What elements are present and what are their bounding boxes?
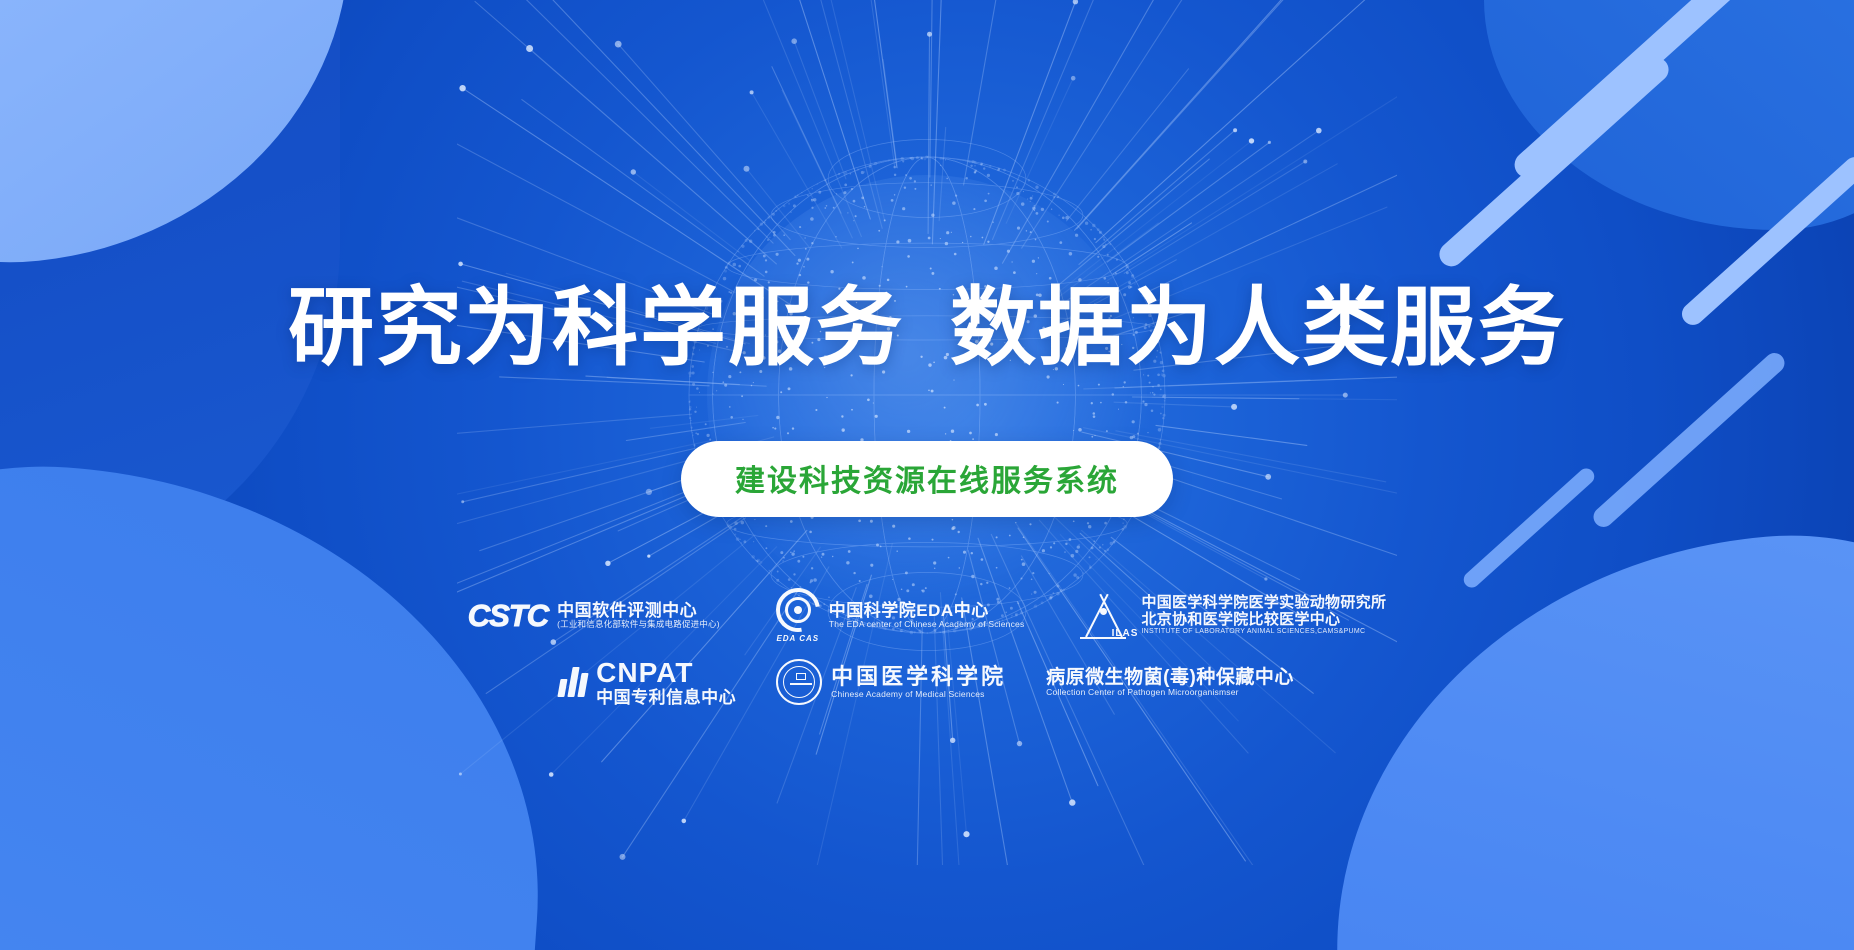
globe-glow <box>707 175 1147 615</box>
subtitle-pill-label: 建设科技资源在线服务系统 <box>735 465 1119 498</box>
logo-cnpat-text: CNPAT 中国专利信息中心 <box>596 657 736 707</box>
logo-eda-mark: EDA CAS <box>776 634 819 643</box>
logo-pathogen-text: 病原微生物菌(毒)种保藏中心 Collection Center of Path… <box>1046 667 1294 698</box>
decorative-streak-2 <box>1434 53 1673 272</box>
partner-logo-row-1: CSTC 中国软件评测中心 (工业和信息化部软件与集成电路促进中心) EDA C… <box>468 588 1387 643</box>
logo-cams-name-cn: 中国医学科学院 <box>831 665 1006 690</box>
logo-ilas-name-cn-2: 北京协和医学院比较医学中心 <box>1141 612 1386 629</box>
ilas-emblem-icon: ILAS <box>1080 593 1132 639</box>
banner-headline: 研究为科学服务数据为人类服务 <box>0 285 1854 371</box>
logo-pathogen-center[interactable]: 病原微生物菌(毒)种保藏中心 Collection Center of Path… <box>1046 667 1294 698</box>
logo-cams-name-en: Chinese Academy of Medical Sciences <box>831 690 1006 700</box>
logo-eda-cas[interactable]: EDA CAS 中国科学院EDA中心 The EDA center of Chi… <box>776 588 1025 643</box>
background-blob-bottom-right-back <box>1534 690 1854 950</box>
logo-cstc-name-sub: (工业和信息化部软件与集成电路促进中心) <box>557 620 720 630</box>
cstc-mark-text: CSTC <box>468 598 548 634</box>
logo-ilas-mark: ILAS <box>1112 628 1139 639</box>
decorative-streak-1 <box>1509 0 1839 183</box>
logo-cnpat[interactable]: CNPAT 中国专利信息中心 <box>560 657 736 707</box>
logo-cstc-text: 中国软件评测中心 (工业和信息化部软件与集成电路促进中心) <box>557 601 720 630</box>
background-blob-top-right <box>1484 0 1854 230</box>
partner-logo-row-2: CNPAT 中国专利信息中心 中国医学科学院 Chinese Academy o… <box>560 657 1294 707</box>
logo-eda-name-cn: 中国科学院EDA中心 <box>829 601 1025 620</box>
headline-part-2: 数据为人类服务 <box>950 280 1566 376</box>
banner-stage: 研究为科学服务数据为人类服务 建设科技资源在线服务系统 CSTC 中国软件评测中… <box>0 0 1854 950</box>
decorative-streak-4 <box>1589 349 1788 531</box>
logo-cams[interactable]: 中国医学科学院 Chinese Academy of Medical Scien… <box>776 659 1006 705</box>
logo-eda-name-en: The EDA center of Chinese Academy of Sci… <box>829 620 1025 630</box>
logo-cstc[interactable]: CSTC 中国软件评测中心 (工业和信息化部软件与集成电路促进中心) <box>468 598 720 634</box>
background-blob-bottom-right <box>1303 506 1854 950</box>
subtitle-pill-button[interactable]: 建设科技资源在线服务系统 <box>681 441 1173 517</box>
logo-cstc-name-cn: 中国软件评测中心 <box>557 601 720 620</box>
headline-part-1: 研究为科学服务 <box>288 280 904 376</box>
logo-ilas-name-cn-1: 中国医学科学院医学实验动物研究所 <box>1141 595 1386 612</box>
logo-ilas-text: 中国医学科学院医学实验动物研究所 北京协和医学院比较医学中心 INSTITUTE… <box>1141 595 1386 636</box>
eda-emblem-icon <box>776 588 820 632</box>
background-blob-top-left-light <box>0 0 380 292</box>
radiating-lines-icon <box>457 0 1397 865</box>
logo-cams-text: 中国医学科学院 Chinese Academy of Medical Scien… <box>831 665 1006 699</box>
logo-eda-text: 中国科学院EDA中心 The EDA center of Chinese Aca… <box>829 601 1025 630</box>
logo-pathogen-name-en: Collection Center of Pathogen Microorgan… <box>1046 688 1294 698</box>
logo-pathogen-name-cn: 病原微生物菌(毒)种保藏中心 <box>1046 667 1294 688</box>
partner-logos: CSTC 中国软件评测中心 (工业和信息化部软件与集成电路促进中心) EDA C… <box>0 588 1854 707</box>
logo-ilas[interactable]: ILAS 中国医学科学院医学实验动物研究所 北京协和医学院比较医学中心 INST… <box>1080 593 1386 639</box>
background-blob-bottom-left-back <box>0 670 520 950</box>
cnpat-bars-icon <box>558 667 590 697</box>
logo-ilas-name-en: INSTITUTE OF LABORATORY ANIMAL SCIENCES,… <box>1141 628 1386 636</box>
decorative-streak-5 <box>1460 465 1597 591</box>
cams-seal-icon <box>776 659 822 705</box>
cstc-wordmark-icon: CSTC <box>468 598 548 634</box>
logo-cnpat-name-cn: 中国专利信息中心 <box>596 688 736 707</box>
logo-cnpat-mark: CNPAT <box>596 657 736 688</box>
